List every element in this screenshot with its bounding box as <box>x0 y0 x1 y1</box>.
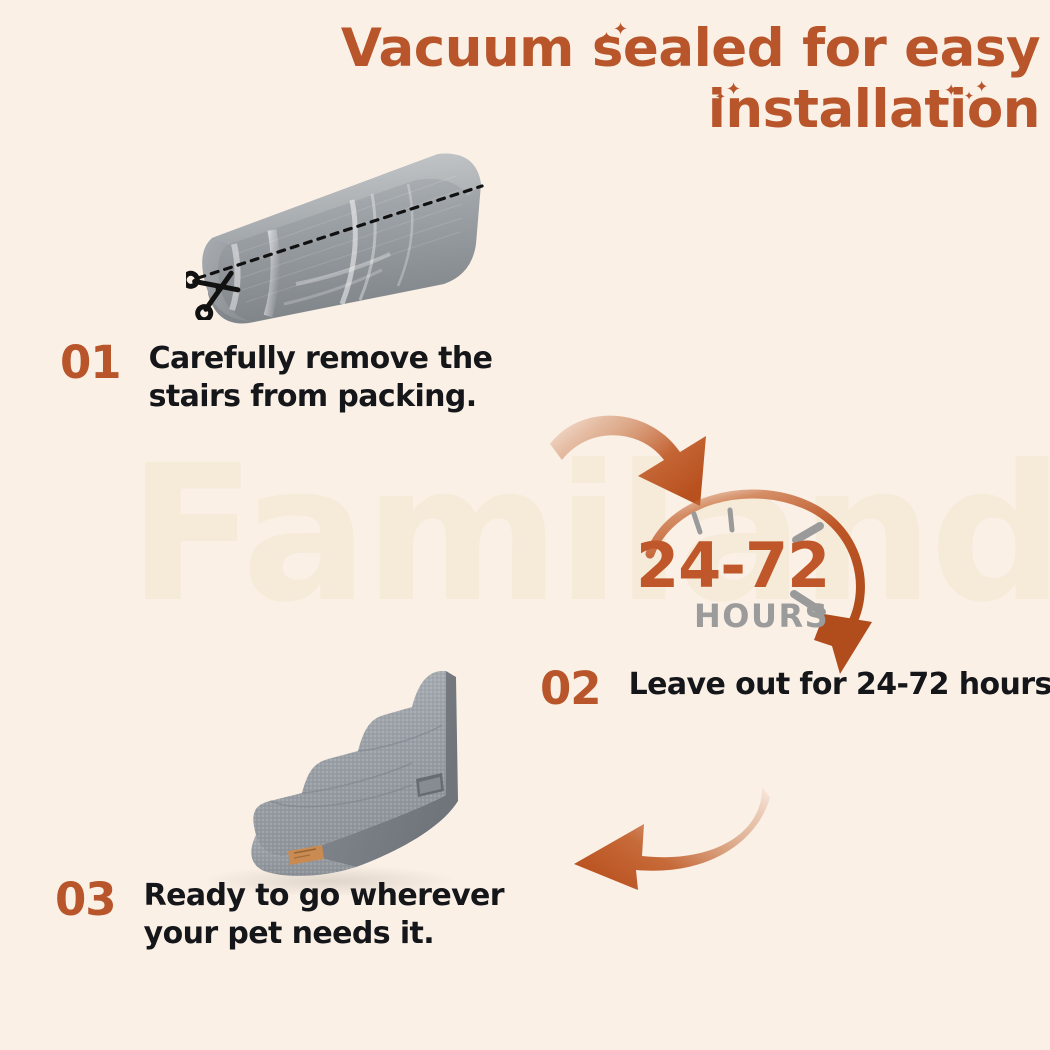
page-title: Vacuum sealed for easy installation <box>330 18 1040 141</box>
clock-timer-icon: 24-72 HOURS <box>618 482 928 682</box>
step-1: 01 Carefully remove the stairs from pack… <box>60 340 589 416</box>
step-1-number: 01 <box>60 340 121 385</box>
clock-unit: HOURS <box>694 600 829 632</box>
step-3-text: Ready to go wherever your pet needs it. <box>144 877 584 953</box>
step-3: 03 Ready to go wherever your pet needs i… <box>55 877 584 953</box>
page-title-line-2: installation <box>330 79 1040 140</box>
step-2-text: Leave out for 24-72 hours. <box>629 666 1050 704</box>
clock-value: 24-72 <box>636 535 829 597</box>
pet-stairs-photo <box>150 595 480 895</box>
step-2-number: 02 <box>540 666 601 711</box>
page-title-line-1: Vacuum sealed for easy <box>330 18 1040 79</box>
arrow-step2-to-step3 <box>556 778 776 893</box>
step-2: 02 Leave out for 24-72 hours. <box>540 666 1050 711</box>
step-1-text: Carefully remove the stairs from packing… <box>149 340 589 416</box>
scissors-icon <box>186 258 246 320</box>
infographic-canvas: Familand Vacuum sealed for easy installa… <box>0 0 1050 1050</box>
step-3-number: 03 <box>55 877 116 922</box>
